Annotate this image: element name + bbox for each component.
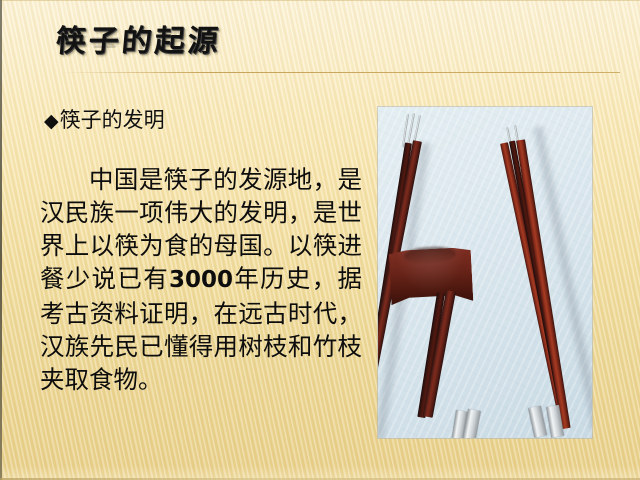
body-paragraph: 中国是筷子的发源地，是汉民族一项伟大的发明，是世界上以筷为食的母国。以筷进餐少说… [40, 163, 362, 396]
slide-canvas: 筷子的起源 筷子的起源 ◆筷子的发明 中国是筷子的发源地，是汉民族一项伟大的发明… [0, 0, 640, 480]
chopsticks-photo [378, 107, 592, 438]
title-block: 筷子的起源 筷子的起源 [0, 16, 640, 78]
slide-title: 筷子的起源 [54, 16, 223, 60]
diamond-bullet-icon: ◆ [44, 110, 59, 132]
bullet-heading: ◆筷子的发明 [44, 104, 165, 134]
title-underline-rule [60, 72, 620, 73]
bullet-heading-label: 筷子的发明 [60, 108, 165, 132]
slide-top-border [0, 0, 640, 1]
body-text-number: 3000 [169, 267, 233, 293]
